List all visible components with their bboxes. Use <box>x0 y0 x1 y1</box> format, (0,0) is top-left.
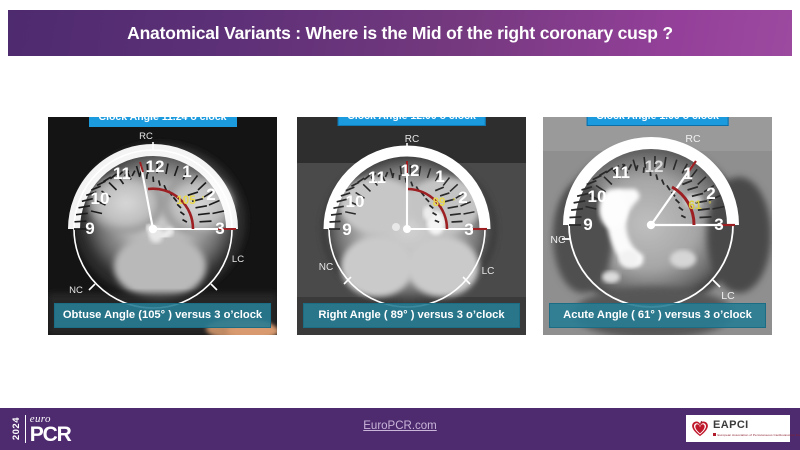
page-title: Anatomical Variants : Where is the Mid o… <box>127 23 673 44</box>
dial-number-12-1: 12 <box>146 157 165 176</box>
eapci-subtitle: European Association of Percutaneous Car… <box>713 433 800 437</box>
cusp-label-nc-3: NC <box>550 234 566 246</box>
dial-number-9-1: 9 <box>85 219 94 238</box>
angle-number-3: 61 <box>688 198 702 212</box>
angle-vertex-3 <box>647 221 655 229</box>
panel-caption-2: Right Angle ( 89° ) versus 3 o’clock <box>303 303 520 328</box>
angle-degree-2: ° <box>452 197 455 206</box>
eapci-text-block: EAPCI European Association of Percutaneo… <box>713 420 800 437</box>
angle-vertex-1 <box>149 225 157 233</box>
angle-degree-3: ° <box>708 199 711 209</box>
slide-title-bar: Anatomical Variants : Where is the Mid o… <box>8 10 792 56</box>
dial-number-12-2: 12 <box>401 161 420 180</box>
cusp-label-nc-2: NC <box>319 262 333 273</box>
footer-website-link[interactable]: EuroPCR.com <box>0 420 800 432</box>
angle-value-label-3: 61 ° <box>688 198 711 212</box>
ct-panel-3: 9 10 11 12 1 2 3 RC LC NC 61 ° Clock Ang… <box>543 117 772 335</box>
dial-number-11-1: 11 <box>113 164 131 183</box>
angle-vertex-2 <box>403 225 411 233</box>
dial-number-2-1: 2 <box>206 185 215 204</box>
dial-number-10-3: 10 <box>588 187 607 206</box>
clock-angle-chip-1: Clock Angle 11.24 o’clock <box>89 117 237 127</box>
dial-number-1-3: 1 <box>683 164 692 183</box>
dial-number-10-2: 10 <box>346 192 365 211</box>
angle-number-2: 89 <box>433 197 446 209</box>
angle-value-label-1: 105 ° <box>176 195 204 207</box>
ct-panel-1: 9 10 11 12 1 2 3 RC LC NC 105 ° Clock An… <box>48 117 277 335</box>
cusp-label-lc-1: LC <box>232 254 244 265</box>
dial-number-11-3: 11 <box>612 163 630 182</box>
panel-caption-1: Obtuse Angle (105° ) versus 3 o’clock <box>54 303 271 328</box>
dial-number-9-2: 9 <box>342 220 351 239</box>
cusp-label-rc-2: RC <box>405 134 419 145</box>
slide-footer: 2024 euro PCR EuroPCR.com EAPCI European… <box>0 408 800 450</box>
cusp-label-lc-3: LC <box>721 290 735 302</box>
angle-number-1: 105 <box>176 195 196 207</box>
dial-number-11-2: 11 <box>368 168 386 187</box>
cusp-label-rc-1: RC <box>139 131 153 142</box>
dial-number-3-2: 3 <box>464 220 473 239</box>
panel-caption-3: Acute Angle ( 61° ) versus 3 o’clock <box>549 303 766 328</box>
eapci-name: EAPCI <box>713 420 800 431</box>
dial-number-3-1: 3 <box>215 219 224 238</box>
heart-icon <box>691 420 709 438</box>
ct-panel-2: 9 10 11 12 1 2 3 RC LC NC 89 ° Clock Ang… <box>297 117 526 335</box>
dial-number-1-1: 1 <box>182 162 191 181</box>
clock-angle-chip-3: Clock Angle 1.00 o’clock <box>586 117 729 126</box>
angle-degree-1: ° <box>201 195 204 204</box>
dial-number-12-3: 12 <box>645 157 664 176</box>
dial-number-1-2: 1 <box>435 167 444 186</box>
cusp-label-lc-2: LC <box>482 266 495 277</box>
eapci-logo: EAPCI European Association of Percutaneo… <box>686 415 790 442</box>
dial-number-9-3: 9 <box>583 215 592 234</box>
dial-number-2-2: 2 <box>458 188 467 207</box>
cusp-label-rc-3: RC <box>685 133 701 145</box>
dial-number-3-3: 3 <box>714 215 723 234</box>
cusp-label-nc-1: NC <box>69 285 83 296</box>
clock-angle-chip-2: Clock Angle 12.00 o’clock <box>337 117 486 126</box>
dial-number-10-1: 10 <box>91 189 110 208</box>
